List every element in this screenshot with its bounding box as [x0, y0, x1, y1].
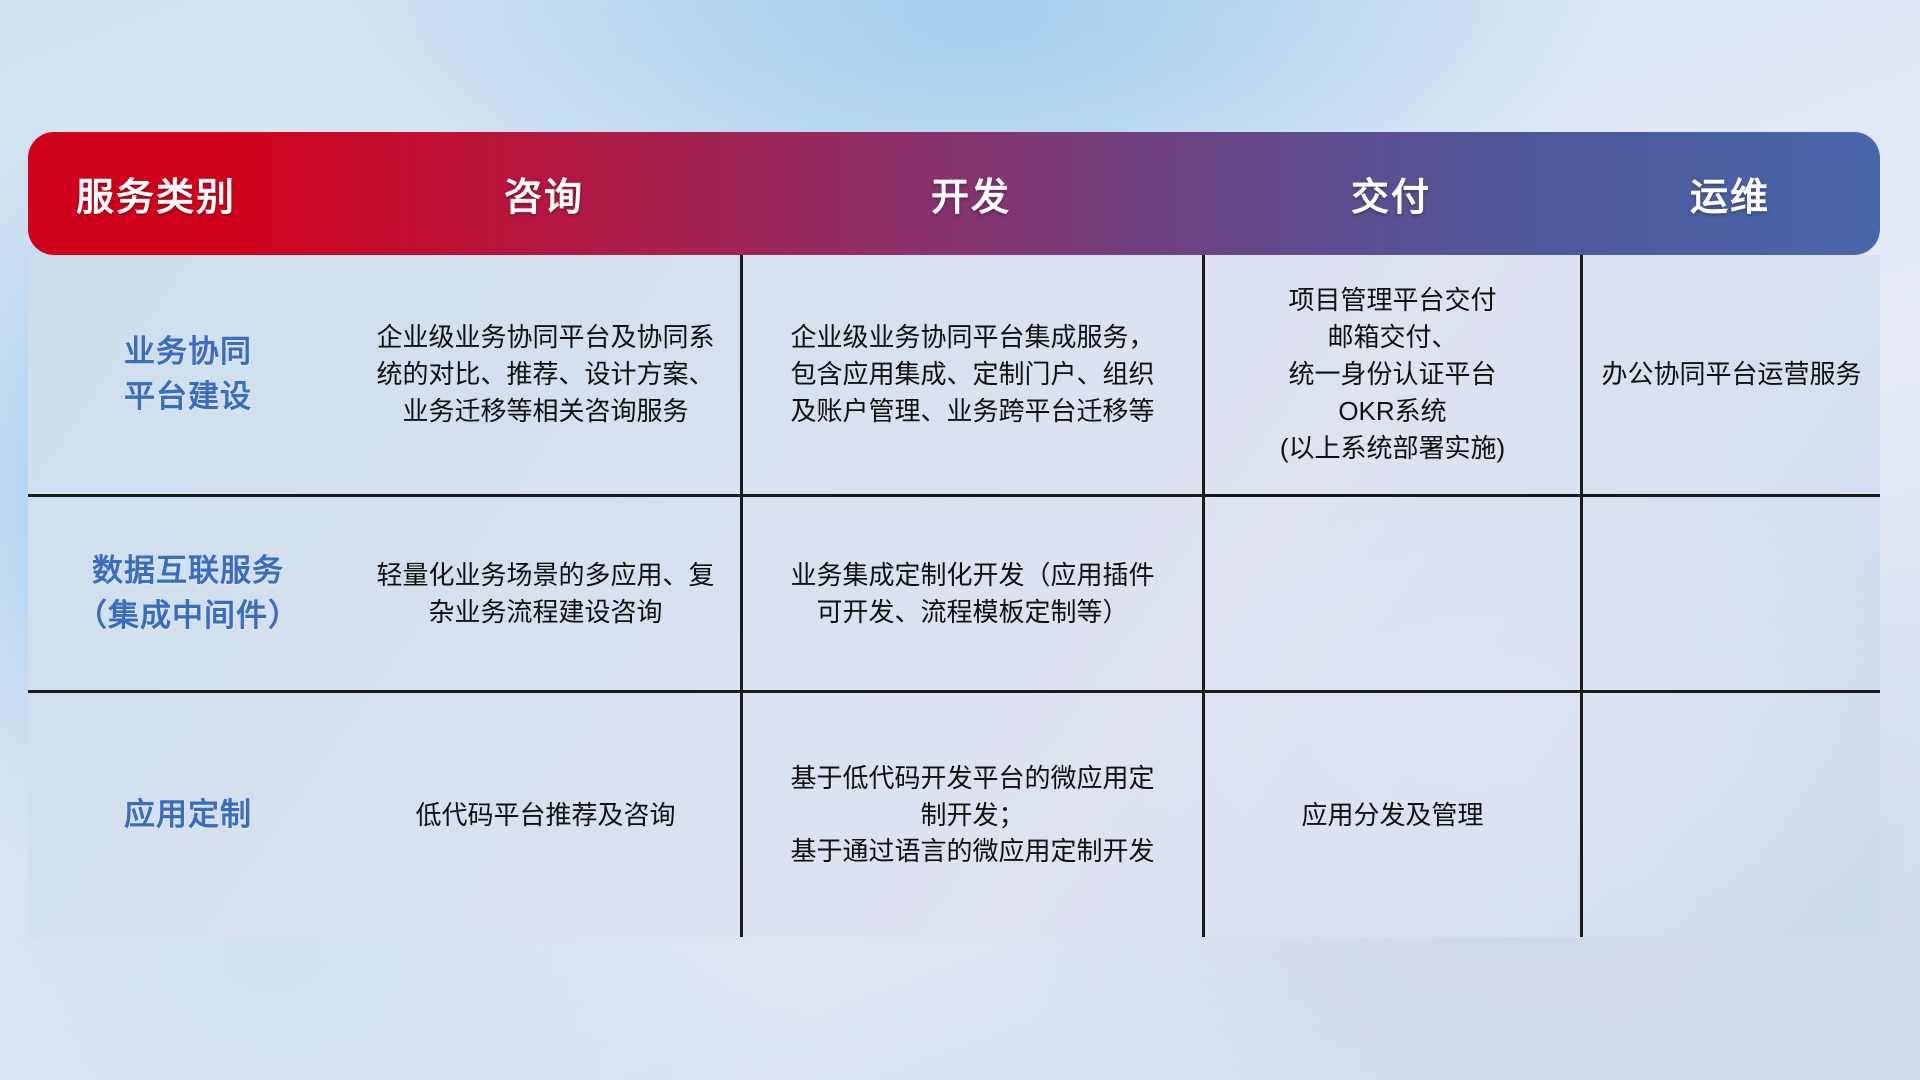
table-body: 业务协同 平台建设 企业级业务协同平台及协同系 统的对比、推荐、设计方案、 业务… — [28, 255, 1880, 937]
cell-consulting: 轻量化业务场景的多应用、复 杂业务流程建设咨询 — [348, 497, 740, 690]
cell-delivery — [1202, 497, 1580, 690]
row-category-label: 业务协同 平台建设 — [28, 255, 348, 494]
table-header-row: 服务类别 咨询 开发 交付 运维 — [28, 132, 1880, 255]
cell-delivery: 项目管理平台交付 邮箱交付、 统一身份认证平台 OKR系统 (以上系统部署实施) — [1202, 255, 1580, 494]
cell-delivery: 应用分发及管理 — [1202, 693, 1580, 937]
column-header-consulting: 咨询 — [348, 132, 740, 255]
service-matrix-table: 服务类别 咨询 开发 交付 运维 业务协同 平台建设 企业级业务协同平台及协同系… — [28, 132, 1880, 937]
row-category-label: 数据互联服务 （集成中间件） — [28, 497, 348, 690]
cell-development: 企业级业务协同平台集成服务， 包含应用集成、定制门户、组织 及账户管理、业务跨平… — [740, 255, 1202, 494]
table-row: 数据互联服务 （集成中间件） 轻量化业务场景的多应用、复 杂业务流程建设咨询 业… — [28, 497, 1880, 693]
cell-development: 业务集成定制化开发（应用插件 可开发、流程模板定制等） — [740, 497, 1202, 690]
cell-operations — [1580, 693, 1880, 937]
cell-operations — [1580, 497, 1880, 690]
cell-consulting: 企业级业务协同平台及协同系 统的对比、推荐、设计方案、 业务迁移等相关咨询服务 — [348, 255, 740, 494]
column-header-category: 服务类别 — [28, 132, 348, 255]
column-header-operations: 运维 — [1580, 132, 1880, 255]
column-header-delivery: 交付 — [1202, 132, 1580, 255]
table-row: 应用定制 低代码平台推荐及咨询 基于低代码开发平台的微应用定 制开发； 基于通过… — [28, 693, 1880, 937]
cell-operations: 办公协同平台运营服务 — [1580, 255, 1880, 494]
cell-consulting: 低代码平台推荐及咨询 — [348, 693, 740, 937]
cell-development: 基于低代码开发平台的微应用定 制开发； 基于通过语言的微应用定制开发 — [740, 693, 1202, 937]
table-row: 业务协同 平台建设 企业级业务协同平台及协同系 统的对比、推荐、设计方案、 业务… — [28, 255, 1880, 497]
column-header-development: 开发 — [740, 132, 1202, 255]
row-category-label: 应用定制 — [28, 693, 348, 937]
